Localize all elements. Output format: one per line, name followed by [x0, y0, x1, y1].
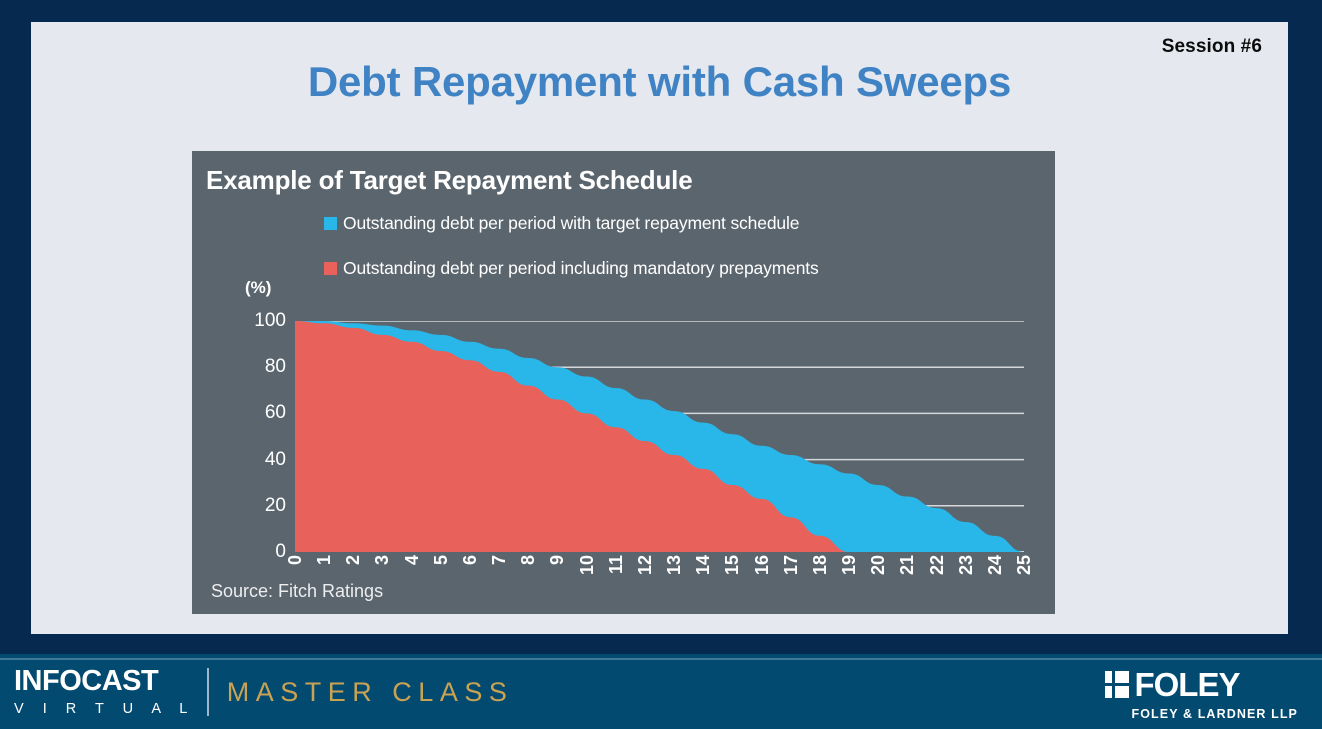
x-tick-label: 4 [403, 555, 421, 565]
foley-squares-icon [1105, 671, 1129, 698]
x-axis-ticks: 0123456789101112131415161718192021222324… [295, 555, 1024, 609]
x-tick-label: 13 [665, 555, 683, 575]
x-tick-label: 7 [490, 555, 508, 565]
page-title: Debt Repayment with Cash Sweeps [31, 58, 1288, 106]
y-axis-ticks: 100806040200 [230, 311, 286, 562]
x-tick-label: 1 [315, 555, 333, 565]
y-tick-label: 60 [265, 402, 286, 424]
foley-logo: FOLEY FOLEY & LARDNER LLP [1105, 668, 1298, 721]
legend-label-mandatory-prepayments: Outstanding debt per period including ma… [343, 258, 819, 279]
plot-area [295, 321, 1024, 552]
legend-item-target-schedule: Outstanding debt per period with target … [324, 209, 1024, 237]
chart-panel: Example of Target Repayment Schedule Out… [192, 151, 1055, 614]
foley-name-text: FOLEY [1134, 668, 1239, 701]
x-tick-label: 14 [694, 555, 712, 575]
y-axis-unit-label: (%) [245, 278, 271, 298]
x-tick-label: 17 [782, 555, 800, 575]
x-tick-label: 10 [578, 555, 596, 575]
foley-full-name-text: FOLEY & LARDNER LLP [1131, 707, 1298, 721]
x-tick-label: 23 [957, 555, 975, 575]
x-tick-label: 20 [869, 555, 887, 575]
x-tick-label: 24 [986, 555, 1004, 575]
slide-canvas: Session #6 Debt Repayment with Cash Swee… [31, 22, 1288, 634]
chart-legend: Outstanding debt per period with target … [324, 209, 1024, 299]
x-tick-label: 16 [753, 555, 771, 575]
session-badge: Session #6 [1162, 36, 1262, 58]
infocast-logo: INFOCAST V I R T U A L MASTER CLASS [14, 668, 513, 716]
source-note: Source: Fitch Ratings [211, 581, 383, 602]
x-tick-label: 0 [286, 555, 304, 565]
y-tick-label: 80 [265, 356, 286, 378]
x-tick-label: 6 [461, 555, 479, 565]
x-tick-label: 22 [928, 555, 946, 575]
x-tick-label: 25 [1015, 555, 1033, 575]
y-tick-label: 20 [265, 495, 286, 517]
chart-heading: Example of Target Repayment Schedule [206, 165, 692, 196]
x-tick-label: 12 [636, 555, 654, 575]
x-tick-label: 15 [723, 555, 741, 575]
logo-divider [207, 668, 209, 716]
slide-root: Session #6 Debt Repayment with Cash Swee… [0, 0, 1322, 729]
area-chart-svg [295, 321, 1024, 552]
x-tick-label: 3 [373, 555, 391, 565]
y-tick-label: 40 [265, 449, 286, 471]
legend-swatch-blue [324, 217, 337, 230]
legend-label-target-schedule: Outstanding debt per period with target … [343, 213, 799, 234]
y-tick-label: 100 [254, 310, 286, 332]
legend-swatch-red [324, 262, 337, 275]
x-tick-label: 11 [607, 555, 625, 574]
infocast-main-text: INFOCAST [14, 667, 195, 696]
infocast-sub-text: V I R T U A L [14, 702, 195, 717]
legend-item-mandatory-prepayments: Outstanding debt per period including ma… [324, 254, 1024, 282]
x-tick-label: 21 [898, 555, 916, 575]
x-tick-label: 8 [519, 555, 537, 565]
x-tick-label: 18 [811, 555, 829, 575]
footer-divider [0, 658, 1322, 660]
x-tick-label: 9 [548, 555, 566, 565]
footer-bar: INFOCAST V I R T U A L MASTER CLASS FOLE… [0, 654, 1322, 729]
infocast-wordmark: INFOCAST V I R T U A L [14, 668, 195, 716]
x-tick-label: 19 [840, 555, 858, 575]
master-class-text: MASTER CLASS [227, 668, 514, 716]
x-tick-label: 5 [432, 555, 450, 565]
foley-wordmark-row: FOLEY [1105, 668, 1239, 701]
x-tick-label: 2 [344, 555, 362, 565]
